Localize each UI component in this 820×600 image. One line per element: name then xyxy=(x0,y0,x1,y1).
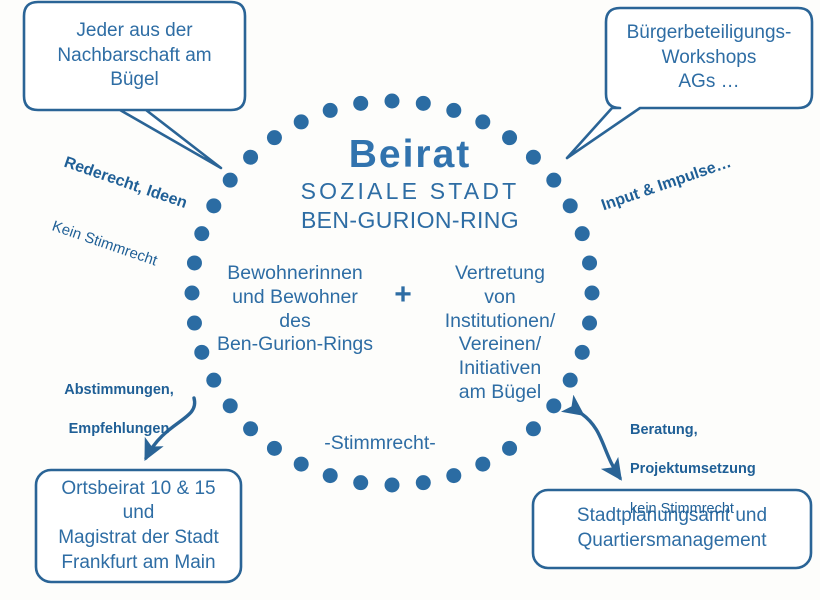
bubble-label-participation[interactable]: Bürgerbeteiligungs- Workshops AGs … xyxy=(606,8,812,108)
ring-dot xyxy=(582,316,597,331)
caption-rederecht-line2: Kein Stimmrecht xyxy=(30,210,178,278)
voting-rights-label: -Stimmrecht- xyxy=(280,432,480,456)
ring-dot xyxy=(446,103,461,118)
plus-icon: + xyxy=(385,277,421,314)
caption-abstimmungen: Abstimmungen, Empfehlungen xyxy=(44,360,194,460)
caption-beratung-line1: Beratung, xyxy=(630,421,820,440)
members-institutions-column: Vertretung von Institutionen/ Vereinen/ … xyxy=(420,262,580,405)
caption-rederecht-line1: Rederecht, Ideen xyxy=(51,149,200,218)
caption-abstimmungen-line2: Empfehlungen xyxy=(44,420,194,439)
ring-dot xyxy=(416,96,431,111)
ring-dot xyxy=(582,255,597,270)
caption-beratung-line3: kein Stimmrecht xyxy=(630,500,820,519)
ring-dot xyxy=(185,286,200,301)
caption-abstimmungen-line1: Abstimmungen, xyxy=(44,381,194,400)
ring-dot xyxy=(385,94,400,109)
ring-dot xyxy=(243,421,258,436)
ring-dot xyxy=(323,103,338,118)
ring-dot xyxy=(526,421,541,436)
caption-beratung: Beratung, Projektumsetzung kein Stimmrec… xyxy=(630,400,820,540)
ring-dot xyxy=(223,398,238,413)
ring-dot xyxy=(187,255,202,270)
ring-dot xyxy=(385,478,400,493)
ring-dot xyxy=(446,468,461,483)
ring-dot xyxy=(502,441,517,456)
ring-dot xyxy=(475,457,490,472)
box-label-ortsbeirat[interactable]: Ortsbeirat 10 & 15 und Magistrat der Sta… xyxy=(36,470,241,582)
arrow-beratung xyxy=(582,414,620,478)
members-residents-column: Bewohnerinnen und Bewohner des Ben-Gurio… xyxy=(205,262,385,357)
ring-dot xyxy=(475,114,490,129)
ring-dot xyxy=(323,468,338,483)
ring-dot xyxy=(416,475,431,490)
caption-beratung-line2: Projektumsetzung xyxy=(630,460,820,479)
caption-input-impulse-line1: Input & Impulse… xyxy=(592,150,741,219)
bubble-label-neighbourhood[interactable]: Jeder aus der Nachbarschaft am Bügel xyxy=(24,2,245,110)
ring-dot xyxy=(294,114,309,129)
diagram-canvas: Beirat SOZIALE STADT BEN-GURION-RING Bew… xyxy=(0,0,820,600)
ring-dot xyxy=(353,96,368,111)
ring-dot xyxy=(353,475,368,490)
ring-dot xyxy=(585,286,600,301)
ring-dot xyxy=(294,457,309,472)
ring-dot xyxy=(206,373,221,388)
ring-dot xyxy=(187,316,202,331)
